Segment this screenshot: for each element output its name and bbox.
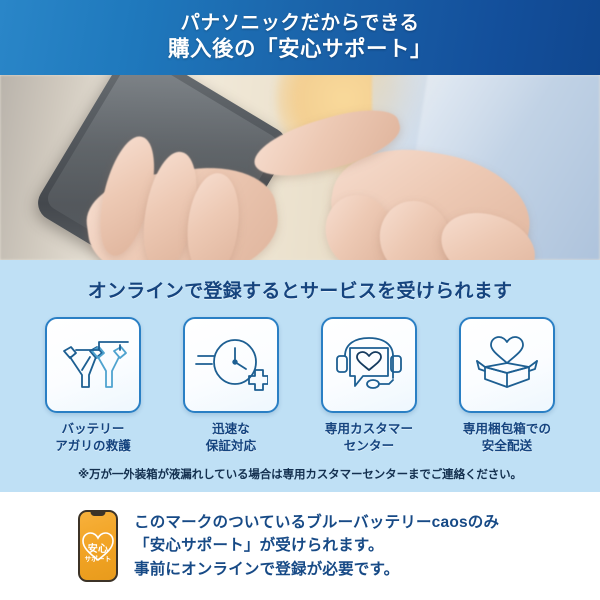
header-banner: パナソニックだからできる 購入後の「安心サポート」: [0, 0, 600, 75]
service-card-fast-warranty: 迅速な 保証対応: [171, 317, 291, 454]
service-icon-box: [321, 317, 417, 413]
service-card-label: 専用梱包箱での 安全配送: [463, 421, 551, 454]
footer-line-1: このマークのついているブルーバッテリーcaosのみ: [134, 511, 499, 535]
service-icon-box: [183, 317, 279, 413]
hero-photo: [0, 75, 600, 260]
services-note: ※万が一外装箱が液漏れしている場合は専用カスタマーセンターまでご連絡ください。: [0, 466, 600, 482]
clock-plus-icon: [194, 336, 268, 394]
service-card-customer-center: 専用カスタマー センター: [309, 317, 429, 454]
service-card-label: 専用カスタマー センター: [325, 421, 413, 454]
box-heart-icon: [471, 335, 543, 395]
service-card-safe-delivery: 専用梱包箱での 安全配送: [447, 317, 567, 454]
footer-line-3: 事前にオンラインで登録が必要です。: [134, 558, 499, 582]
jumper-cables-icon: [56, 337, 130, 393]
service-icon-box: [459, 317, 555, 413]
services-section: オンラインで登録するとサービスを受けられます: [0, 260, 600, 492]
service-icon-box: [45, 317, 141, 413]
footer-line-2: 「安心サポート」が受けられます。: [134, 534, 499, 558]
footer-text-block: このマークのついているブルーバッテリーcaosのみ 「安心サポート」が受けられま…: [134, 511, 499, 582]
header-title-line1: パナソニックだからできる: [180, 11, 419, 36]
service-card-label: 迅速な 保証対応: [206, 421, 256, 454]
services-heading: オンラインで登録するとサービスを受けられます: [0, 276, 600, 303]
service-card-label: バッテリー アガリの救護: [55, 421, 131, 454]
support-infographic: パナソニックだからできる 購入後の「安心サポート」 オンラインで登録するとサービ…: [0, 0, 600, 600]
badge-text-bottom: サポート: [80, 553, 116, 563]
header-title-line2: 購入後の「安心サポート」: [168, 36, 432, 64]
headset-heart-icon: [333, 334, 405, 396]
service-cards: バッテリー アガリの救護: [0, 317, 600, 454]
service-card-battery-rescue: バッテリー アガリの救護: [33, 317, 153, 454]
footer-section: 安心 サポート このマークのついているブルーバッテリーcaosのみ 「安心サポー…: [0, 492, 600, 600]
anshin-support-phone-badge: 安心 サポート: [78, 510, 118, 582]
